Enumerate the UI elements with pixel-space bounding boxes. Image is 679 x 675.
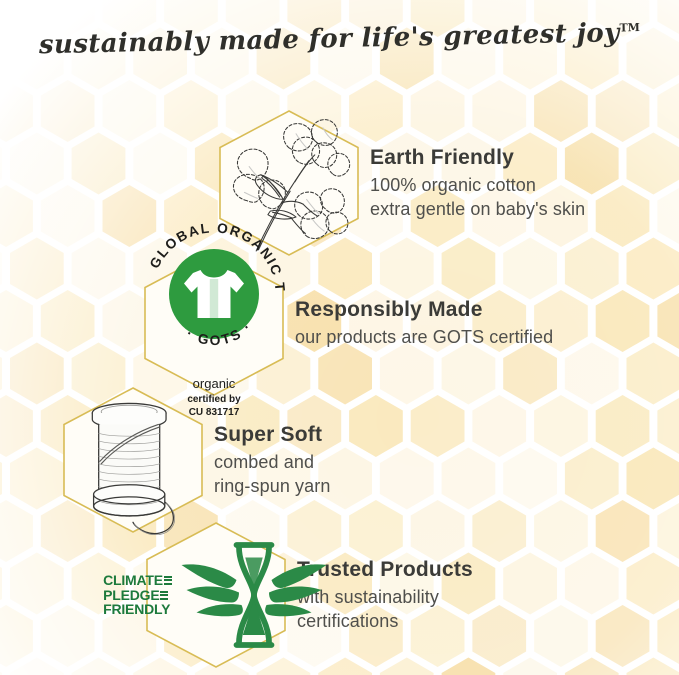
feature-line-1: our products are GOTS certified bbox=[295, 326, 553, 350]
cpf-word-pledge: PLEDGE bbox=[103, 588, 159, 603]
feature-text-responsibly-made: Responsibly Made our products are GOTS c… bbox=[295, 296, 553, 349]
trademark-symbol: TM bbox=[619, 21, 640, 34]
feature-title: Earth Friendly bbox=[370, 144, 585, 172]
feature-line-2: extra gentle on baby's skin bbox=[370, 198, 585, 222]
feature-line-1: 100% organic cotton bbox=[370, 174, 585, 198]
hex-card-super-soft bbox=[58, 385, 208, 535]
hex-card-responsibly-made: GLOBAL ORGANIC TEXTILE STANDARD · GOTS ·… bbox=[139, 248, 289, 398]
cpf-bars-icon bbox=[160, 591, 168, 600]
hex-card-trusted-products: CLIMATE PLEDGE FRIENDLY bbox=[141, 520, 291, 670]
feature-responsibly-made: GLOBAL ORGANIC TEXTILE STANDARD · GOTS ·… bbox=[139, 248, 553, 398]
feature-text-super-soft: Super Soft combed and ring-spun yarn bbox=[214, 421, 330, 498]
thread-spool-icon bbox=[58, 385, 208, 535]
feature-line-2: ring-spun yarn bbox=[214, 475, 330, 499]
feature-super-soft: Super Soft combed and ring-spun yarn bbox=[58, 385, 330, 535]
feature-trusted-products: CLIMATE PLEDGE FRIENDLY bbox=[141, 520, 473, 670]
gots-logo-icon: GLOBAL ORGANIC TEXTILE STANDARD · GOTS · bbox=[139, 219, 289, 369]
feature-line-1: combed and bbox=[214, 451, 330, 475]
cpf-bars-icon bbox=[164, 576, 172, 585]
cpf-word-climate: CLIMATE bbox=[103, 573, 163, 588]
feature-title: Super Soft bbox=[214, 421, 330, 449]
cpf-wordmark: CLIMATE PLEDGE FRIENDLY bbox=[103, 573, 172, 617]
cpf-word-friendly: FRIENDLY bbox=[103, 602, 170, 617]
feature-text-earth-friendly: Earth Friendly 100% organic cotton extra… bbox=[370, 144, 585, 221]
winged-hourglass-icon bbox=[179, 520, 329, 670]
climate-pledge-friendly-badge: CLIMATE PLEDGE FRIENDLY bbox=[103, 520, 329, 670]
feature-title: Responsibly Made bbox=[295, 296, 553, 324]
